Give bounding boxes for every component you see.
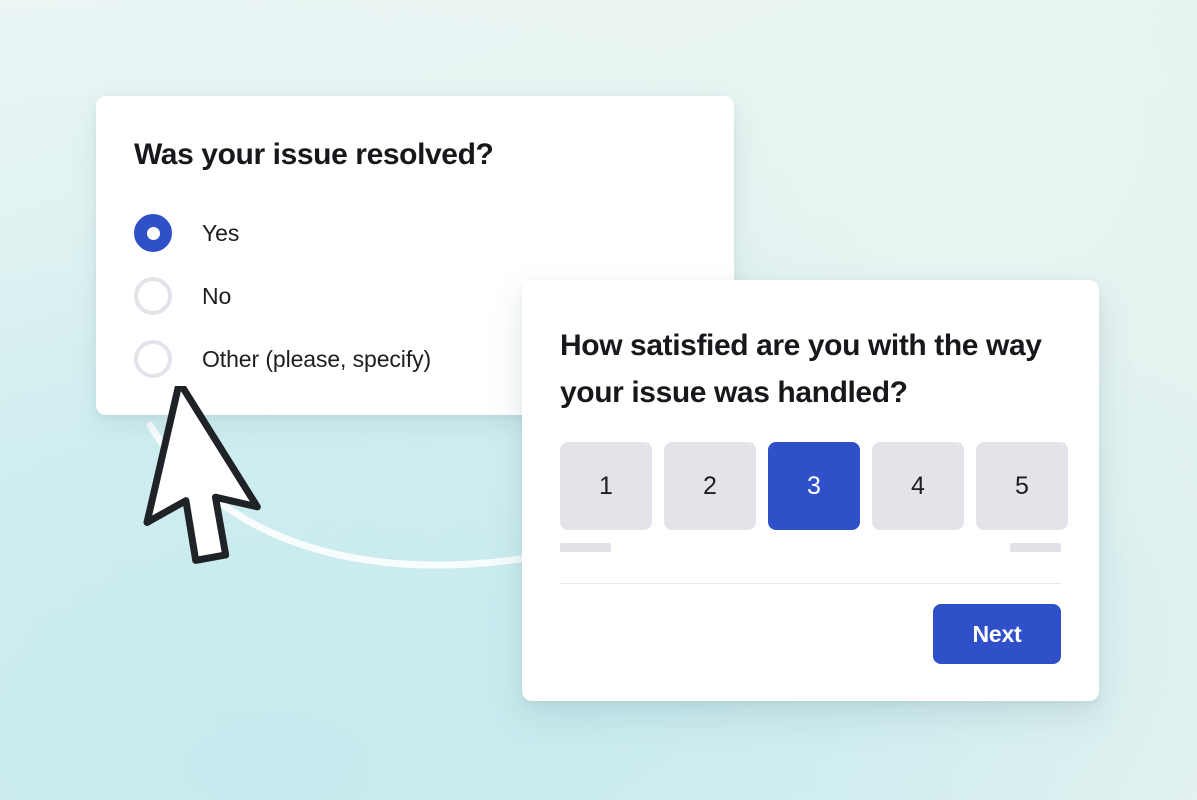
radio-selected-icon[interactable] [134,214,172,252]
radio-option-yes[interactable]: Yes [134,210,694,256]
question-two-title: How satisfied are you with the way your … [560,322,1065,416]
scale-legend-left-placeholder [560,543,611,552]
next-button[interactable]: Next [933,604,1061,664]
rating-button-3-selected[interactable]: 3 [768,442,860,530]
rating-button-2[interactable]: 2 [664,442,756,530]
card-divider [560,583,1061,584]
rating-scale-group: 1 2 3 4 5 [560,442,1068,530]
question-one-title: Was your issue resolved? [134,138,493,172]
scale-legend-right-placeholder [1010,543,1061,552]
rating-button-1[interactable]: 1 [560,442,652,530]
radio-unselected-icon[interactable] [134,340,172,378]
rating-button-4[interactable]: 4 [872,442,964,530]
radio-option-label: No [202,283,231,310]
question-card-satisfaction: How satisfied are you with the way your … [522,280,1099,701]
radio-option-label: Yes [202,220,239,247]
scale-legend [560,543,1061,552]
rating-button-5[interactable]: 5 [976,442,1068,530]
radio-unselected-icon[interactable] [134,277,172,315]
radio-option-label: Other (please, specify) [202,346,431,373]
